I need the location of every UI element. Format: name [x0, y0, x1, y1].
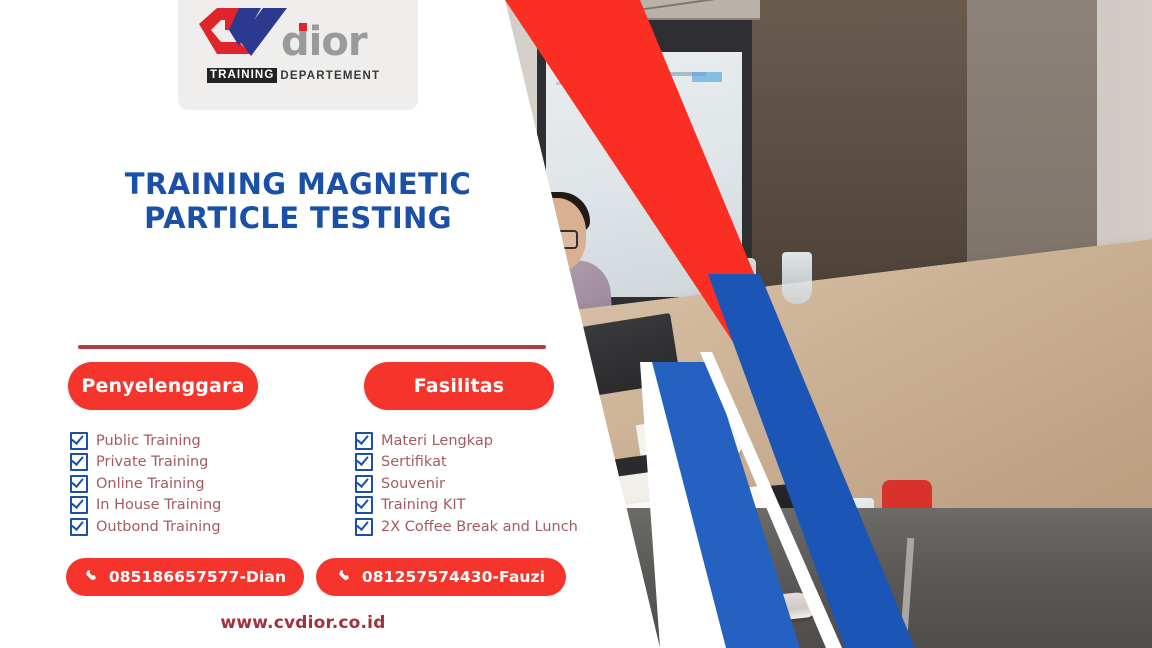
page-title: TRAINING MAGNETIC PARTICLE TESTING: [48, 168, 548, 235]
list-item-label: Sertifikat: [381, 454, 447, 470]
brand-tagline-departement: DEPARTEMENT: [280, 70, 380, 82]
list-item: Private Training: [70, 452, 355, 474]
photo-screen-highlight: [692, 72, 722, 82]
phone-icon: [84, 569, 100, 585]
checkbox-checked-icon: [355, 518, 373, 536]
photo-screen-content-line: [556, 72, 706, 76]
section-badges: Penyelenggara Fasilitas: [68, 362, 568, 410]
list-item-label: 2X Coffee Break and Lunch: [381, 519, 578, 535]
list-item-label: Materi Lengkap: [381, 433, 493, 449]
fasilitas-list: Materi Lengkap Sertifikat Souvenir Train…: [355, 430, 610, 538]
list-item: 2X Coffee Break and Lunch: [355, 516, 610, 538]
checkbox-checked-icon: [70, 453, 88, 471]
contact-buttons: 085186657577-Dian 081257574430-Fauzi: [66, 558, 606, 596]
list-item: Outbond Training: [70, 516, 355, 538]
phone-icon: [337, 569, 353, 585]
photo-glass: [782, 252, 812, 304]
list-item: Training KIT: [355, 495, 610, 517]
contact-button-fauzi[interactable]: 081257574430-Fauzi: [316, 558, 566, 596]
badge-penyelenggara[interactable]: Penyelenggara: [68, 362, 258, 410]
brand-wordmark-dot-icon: [299, 23, 307, 31]
brand-wordmark: dior: [281, 22, 367, 62]
list-item: Online Training: [70, 473, 355, 495]
brand-tagline: TRAINING DEPARTEMENT: [207, 68, 380, 83]
cv-monogram-icon: [195, 6, 291, 71]
section-divider: [78, 345, 546, 349]
checkbox-checked-icon: [70, 432, 88, 450]
list-item-label: In House Training: [96, 497, 221, 513]
feature-columns: Public Training Private Training Online …: [70, 430, 610, 538]
list-item-label: Online Training: [96, 476, 205, 492]
photo-laptop: [575, 313, 681, 397]
list-item-label: Public Training: [96, 433, 201, 449]
list-item-label: Souvenir: [381, 476, 445, 492]
contact-label: 081257574430-Fauzi: [362, 568, 545, 586]
photo-person-arm: [466, 291, 545, 345]
promotional-poster: dior TRAINING DEPARTEMENT TRAINING MAGNE…: [0, 0, 1152, 648]
checkbox-checked-icon: [70, 475, 88, 493]
badge-fasilitas[interactable]: Fasilitas: [364, 362, 554, 410]
penyelenggara-list: Public Training Private Training Online …: [70, 430, 355, 538]
list-item-label: Private Training: [96, 454, 208, 470]
list-item: Sertifikat: [355, 452, 610, 474]
brand-logo-card: dior TRAINING DEPARTEMENT: [178, 0, 418, 110]
photo-clip-region: [0, 0, 1152, 648]
list-item: Materi Lengkap: [355, 430, 610, 452]
list-item-label: Training KIT: [381, 497, 465, 513]
photo-bottle: [730, 258, 756, 322]
checkbox-checked-icon: [70, 518, 88, 536]
list-item-label: Outbond Training: [96, 519, 221, 535]
contact-label: 085186657577-Dian: [109, 568, 286, 586]
checkbox-checked-icon: [355, 475, 373, 493]
checkbox-checked-icon: [355, 432, 373, 450]
checkbox-checked-icon: [355, 453, 373, 471]
photo-screen-content-line: [556, 82, 666, 85]
contact-button-dian[interactable]: 085186657577-Dian: [66, 558, 304, 596]
photo-mug: [690, 420, 742, 460]
brand-tagline-training: TRAINING: [207, 68, 277, 83]
training-classroom-photo: [452, 0, 1152, 648]
list-item: Souvenir: [355, 473, 610, 495]
checkbox-checked-icon: [355, 496, 373, 514]
website-url[interactable]: www.cvdior.co.id: [48, 613, 558, 633]
photo-person-glasses: [552, 230, 578, 249]
list-item: Public Training: [70, 430, 355, 452]
list-item: In House Training: [70, 495, 355, 517]
checkbox-checked-icon: [70, 496, 88, 514]
